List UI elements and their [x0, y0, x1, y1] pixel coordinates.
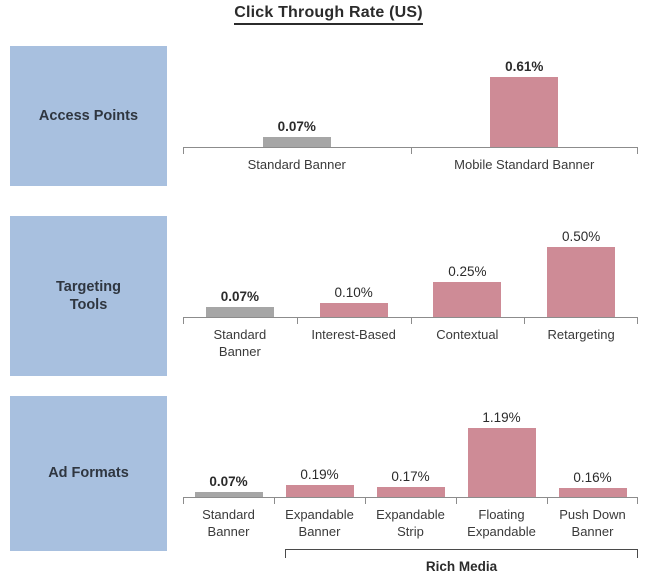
axis-tick — [274, 497, 365, 504]
bar-group: 0.07%0.61% — [183, 46, 638, 147]
bar-value-label: 0.16% — [573, 470, 611, 485]
x-axis-ticks — [183, 147, 638, 154]
plot-area: 0.07%0.19%0.17%1.19%0.16%StandardBannerE… — [183, 396, 638, 582]
bar-rect[interactable] — [468, 428, 536, 497]
bar-rect[interactable] — [433, 282, 501, 317]
group-bracket — [285, 549, 638, 558]
group-bracket-label: Rich Media — [285, 559, 638, 574]
x-axis-ticks — [183, 317, 638, 324]
page-title: Click Through Rate (US) — [0, 4, 657, 22]
bar-rect[interactable] — [320, 303, 388, 317]
axis-tick — [524, 317, 638, 324]
bar-rect[interactable] — [286, 485, 354, 497]
bar-slot[interactable]: 0.07% — [183, 46, 411, 147]
plot-area: 0.07%0.61%Standard BannerMobile Standard… — [183, 46, 638, 196]
bar-rect[interactable] — [263, 137, 331, 147]
category-label: FloatingExpandable — [456, 506, 547, 540]
bar-value-label: 0.25% — [448, 264, 486, 279]
panel-label-text: Access Points — [39, 107, 138, 125]
axis-tick — [411, 147, 639, 154]
category-label: ExpandableBanner — [274, 506, 365, 540]
x-axis-categories: StandardBannerExpandableBannerExpandable… — [183, 506, 638, 540]
axis-tick — [365, 497, 456, 504]
category-label: Mobile Standard Banner — [411, 156, 639, 173]
panel-label-box: TargetingTools — [10, 216, 167, 376]
x-axis-categories: Standard BannerMobile Standard Banner — [183, 156, 638, 173]
bar-rect[interactable] — [547, 247, 615, 317]
axis-tick — [183, 147, 411, 154]
bar-slot[interactable]: 0.10% — [297, 216, 411, 317]
bar-slot[interactable]: 0.17% — [365, 396, 456, 497]
axis-tick — [411, 317, 525, 324]
category-label: Push DownBanner — [547, 506, 638, 540]
bar-group: 0.07%0.19%0.17%1.19%0.16% — [183, 396, 638, 497]
axis-tick — [456, 497, 547, 504]
bar-rect[interactable] — [206, 307, 274, 317]
axis-tick — [637, 147, 638, 154]
bar-slot[interactable]: 0.25% — [411, 216, 525, 317]
bar-value-label: 0.07% — [278, 119, 316, 134]
category-label: Contextual — [411, 326, 525, 360]
category-label: StandardBanner — [183, 506, 274, 540]
bar-slot[interactable]: 0.07% — [183, 216, 297, 317]
x-axis-categories: StandardBannerInterest-BasedContextualRe… — [183, 326, 638, 360]
axis-tick — [183, 317, 297, 324]
category-label: ExpandableStrip — [365, 506, 456, 540]
bar-slot[interactable]: 0.50% — [524, 216, 638, 317]
chart-panel-targeting-tools: TargetingTools0.07%0.10%0.25%0.50%Standa… — [0, 216, 657, 386]
axis-tick — [637, 497, 638, 504]
category-label: Standard Banner — [183, 156, 411, 173]
bar-value-label: 0.50% — [562, 229, 600, 244]
bar-group: 0.07%0.10%0.25%0.50% — [183, 216, 638, 317]
bar-value-label: 0.07% — [221, 289, 259, 304]
axis-tick — [183, 497, 274, 504]
bar-rect[interactable] — [377, 487, 445, 497]
bar-value-label: 1.19% — [482, 410, 520, 425]
axis-tick — [637, 317, 638, 324]
bar-value-label: 0.19% — [300, 467, 338, 482]
bar-value-label: 0.17% — [391, 469, 429, 484]
panel-label-text: TargetingTools — [56, 278, 121, 314]
bar-slot[interactable]: 0.19% — [274, 396, 365, 497]
category-label: Interest-Based — [297, 326, 411, 360]
category-label: Retargeting — [524, 326, 638, 360]
bar-value-label: 0.07% — [209, 474, 247, 489]
chart-panel-ad-formats: Ad Formats0.07%0.19%0.17%1.19%0.16%Stand… — [0, 396, 657, 582]
bar-value-label: 0.10% — [334, 285, 372, 300]
chart-panel-access-points: Access Points0.07%0.61%Standard BannerMo… — [0, 46, 657, 196]
bar-slot[interactable]: 0.16% — [547, 396, 638, 497]
axis-tick — [547, 497, 638, 504]
bar-slot[interactable]: 1.19% — [456, 396, 547, 497]
x-axis-ticks — [183, 497, 638, 504]
panel-label-box: Access Points — [10, 46, 167, 186]
bar-rect[interactable] — [490, 77, 558, 147]
page-title-text: Click Through Rate (US) — [234, 4, 423, 25]
axis-tick — [297, 317, 411, 324]
panel-label-text: Ad Formats — [48, 464, 129, 482]
plot-area: 0.07%0.10%0.25%0.50%StandardBannerIntere… — [183, 216, 638, 386]
bar-slot[interactable]: 0.61% — [411, 46, 639, 147]
panel-label-box: Ad Formats — [10, 396, 167, 551]
bar-slot[interactable]: 0.07% — [183, 396, 274, 497]
bar-rect[interactable] — [559, 488, 627, 497]
category-label: StandardBanner — [183, 326, 297, 360]
bar-value-label: 0.61% — [505, 59, 543, 74]
